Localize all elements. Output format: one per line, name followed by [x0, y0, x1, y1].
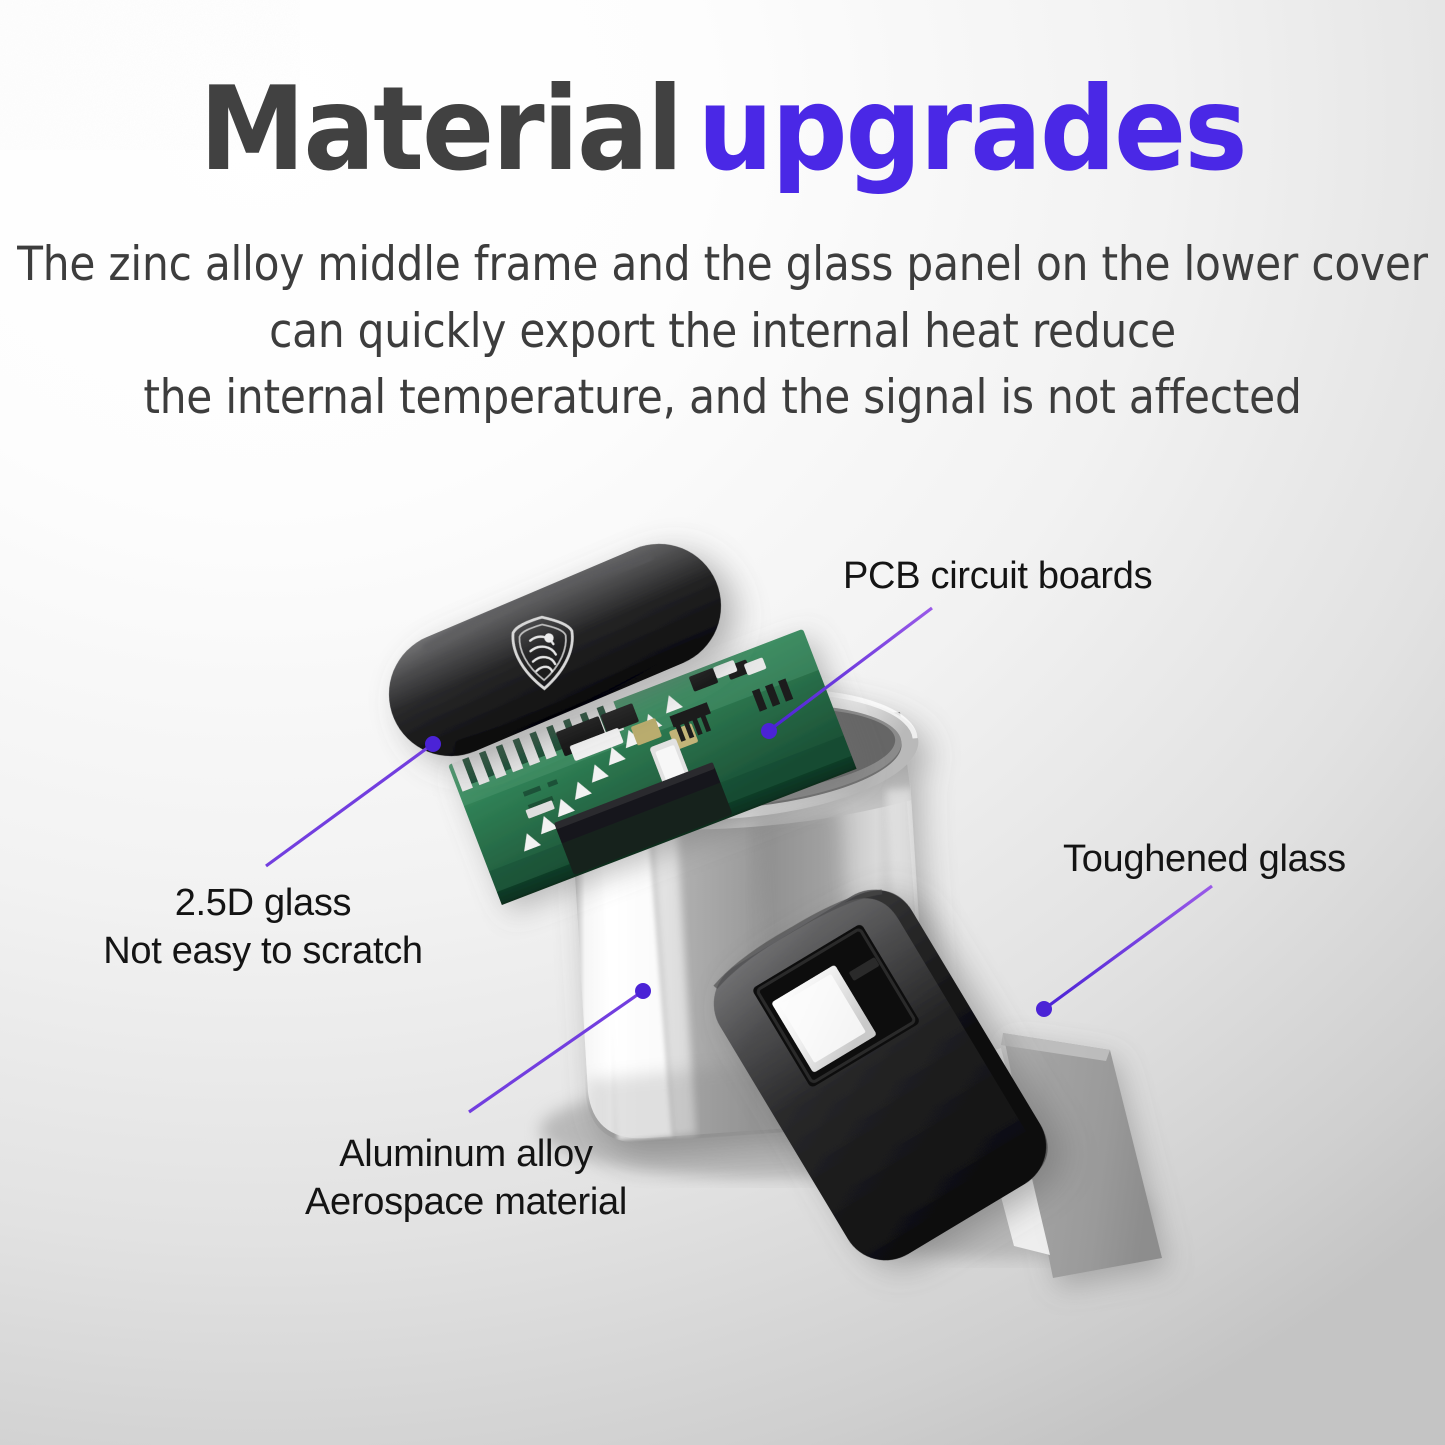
callout-label-25d-glass: 2.5D glass Not easy to scratch [92, 880, 434, 976]
callout-label-aluminum-alloy: Aluminum alloy Aerospace material [298, 1131, 634, 1227]
callout-aluminum-line2: Aerospace material [298, 1179, 634, 1227]
header: Materialupgrades The zinc alloy middle f… [0, 0, 1445, 432]
title-word-material: Material [199, 62, 681, 197]
page-title: Materialupgrades [0, 72, 1445, 188]
callout-label-pcb: PCB circuit boards [843, 553, 1152, 601]
callout-label-toughened-glass: Toughened glass [1063, 836, 1346, 884]
callout-aluminum-line1: Aluminum alloy [298, 1131, 634, 1179]
subtitle-line-2: can quickly export the internal heat red… [0, 299, 1445, 366]
callout-pcb-line1: PCB circuit boards [843, 553, 1152, 601]
subtitle: The zinc alloy middle frame and the glas… [0, 232, 1445, 432]
infographic-stage: Materialupgrades The zinc alloy middle f… [0, 0, 1445, 1445]
title-word-upgrades: upgrades [698, 62, 1246, 197]
callout-25d-line1: 2.5D glass [92, 880, 434, 928]
callout-25d-line2: Not easy to scratch [92, 928, 434, 976]
subtitle-line-3: the internal temperature, and the signal… [0, 365, 1445, 432]
subtitle-line-1: The zinc alloy middle frame and the glas… [0, 232, 1445, 299]
callout-toughened-line1: Toughened glass [1063, 836, 1346, 884]
